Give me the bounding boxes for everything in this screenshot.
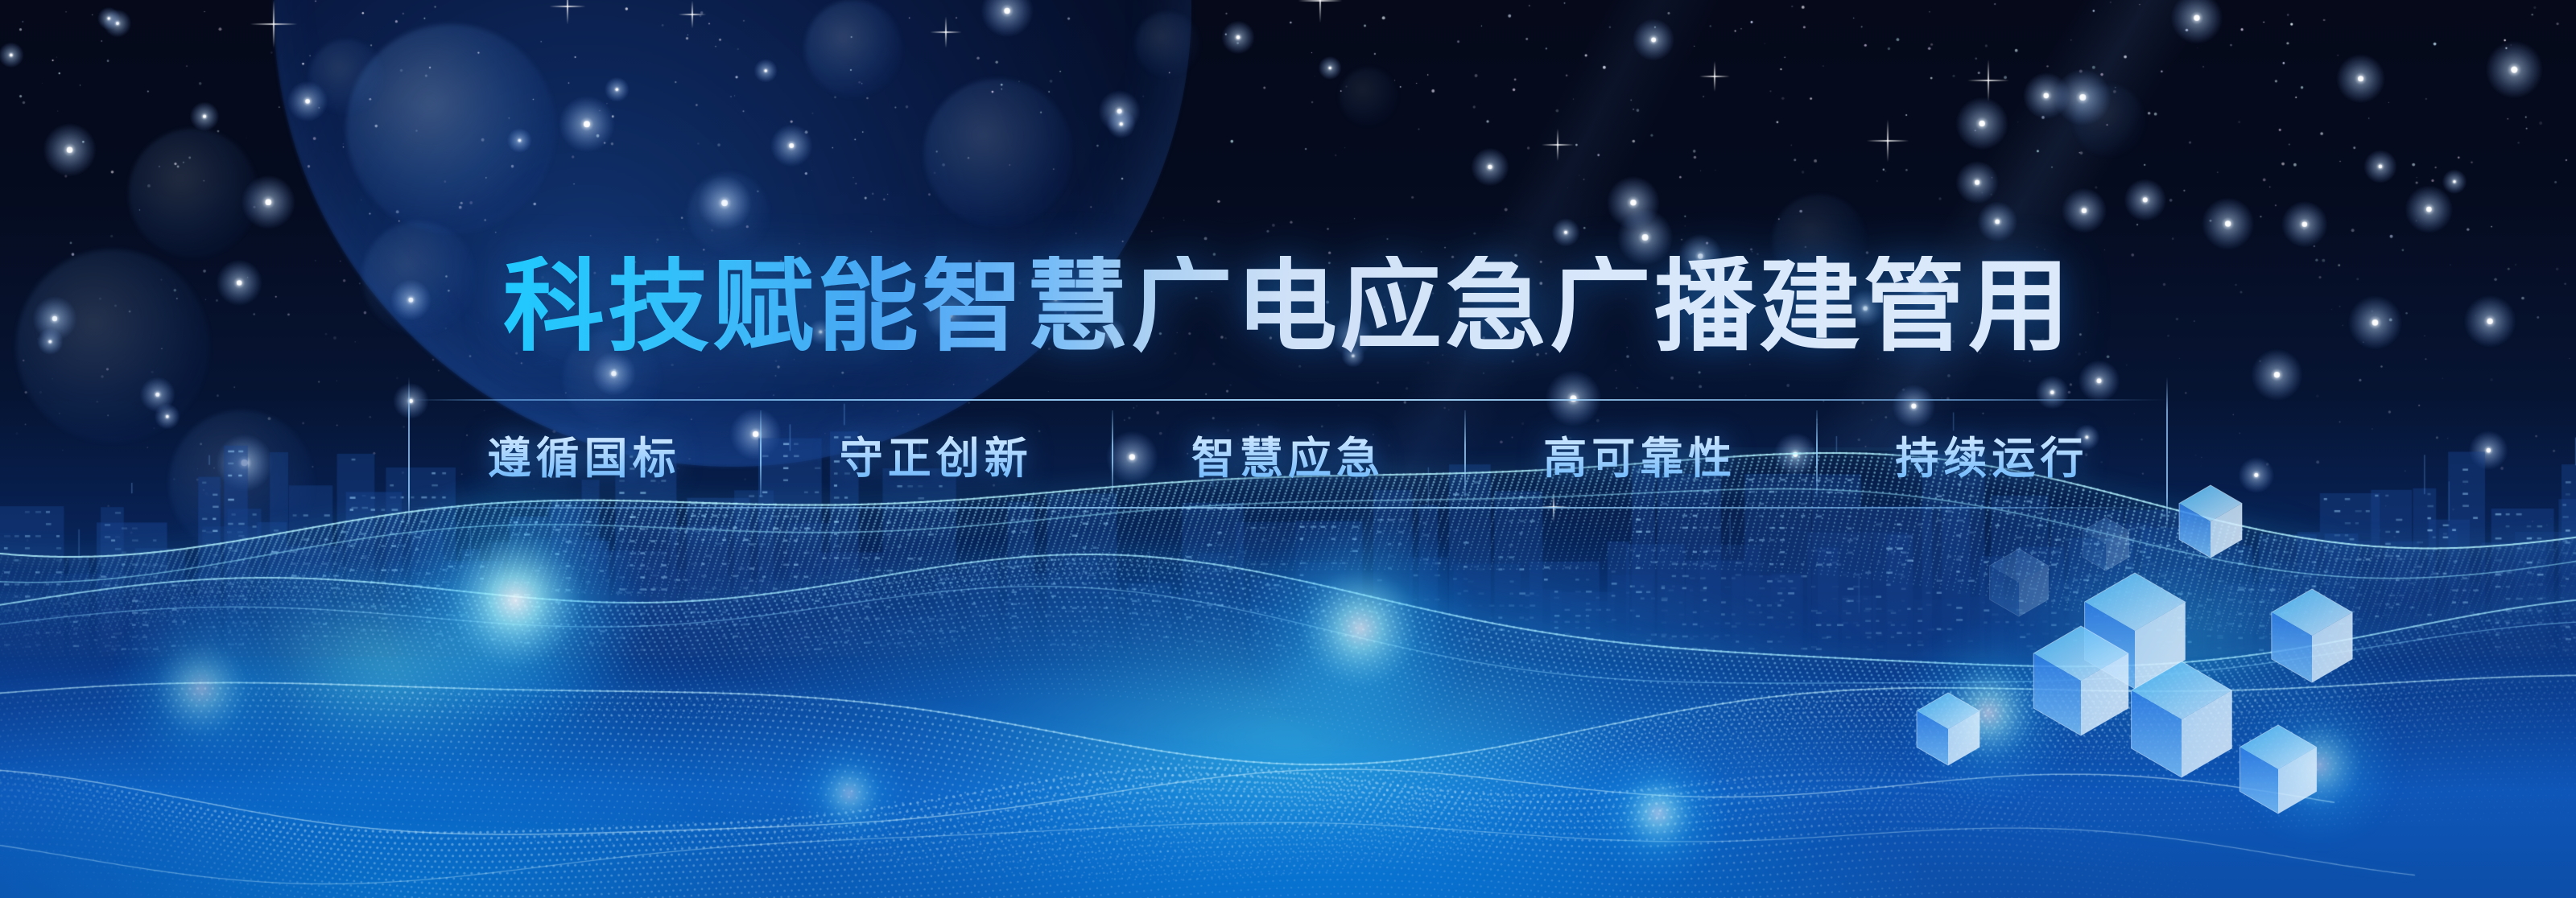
feature-label: 遵循国标 [488,422,681,486]
feature-item-1[interactable]: 守正创新 [760,399,1112,509]
feature-item-3[interactable]: 高可靠性 [1464,399,1816,509]
banner-hero: 科技赋能智慧广电应急广播建管用 遵循国标 守正创新 智慧应急 高可靠性 持续运行 [0,0,2576,898]
feature-item-0[interactable]: 遵循国标 [408,399,760,509]
isometric-hexagon-cubes [1851,447,2576,898]
feature-bar: 遵循国标 守正创新 智慧应急 高可靠性 持续运行 [408,399,2168,509]
banner-content: 科技赋能智慧广电应急广播建管用 遵循国标 守正创新 智慧应急 高可靠性 持续运行 [0,0,2576,509]
feature-label: 持续运行 [1895,422,2088,486]
page-title: 科技赋能智慧广电应急广播建管用 [503,256,2073,357]
hexagon-cube-8 [2240,725,2316,814]
hexagon-cube-4 [2272,589,2352,682]
feature-label: 守正创新 [840,422,1033,486]
feature-item-2[interactable]: 智慧应急 [1112,399,1463,509]
hexagon-cube-2 [1990,549,2049,616]
feature-item-4[interactable]: 持续运行 [1816,399,2168,509]
hexagon-cube-7 [1917,693,1979,765]
hexagon-cube-0 [2083,517,2128,571]
feature-label: 高可靠性 [1543,422,1736,486]
feature-label: 智慧应急 [1191,422,1385,486]
